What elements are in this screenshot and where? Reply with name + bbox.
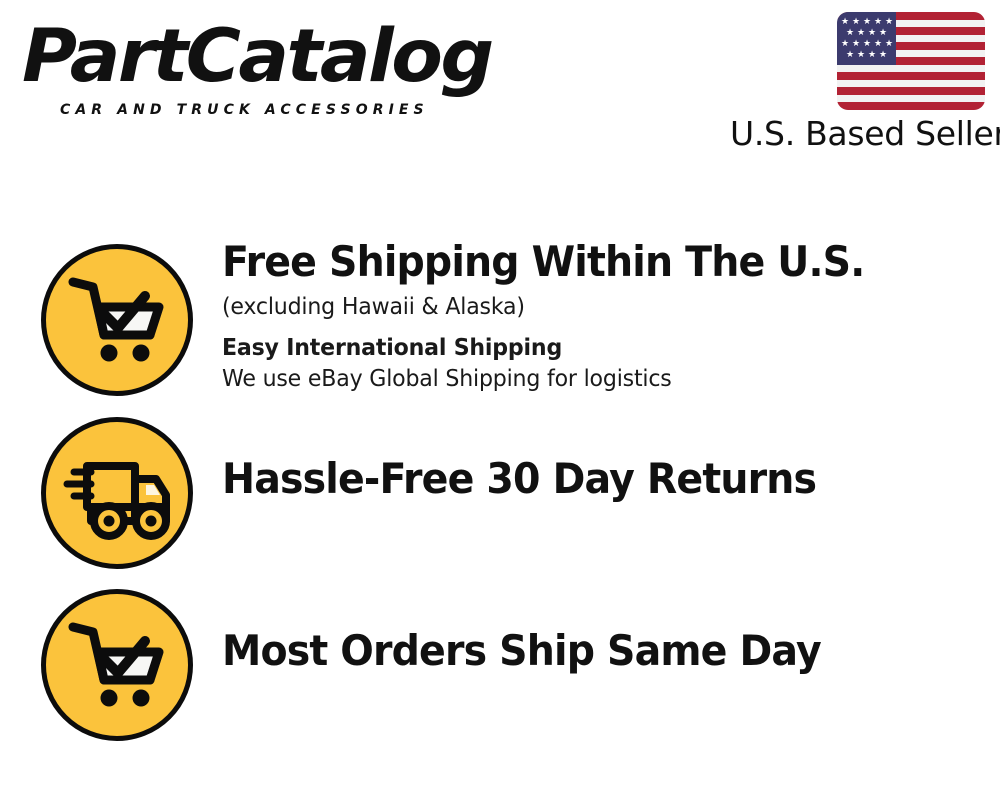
delivery-truck-icon (41, 417, 193, 569)
benefit-subtext-exclusions: (excluding Hawaii & Alaska) (222, 292, 961, 322)
cart-check-glyph (46, 249, 188, 391)
benefit-subtext-international-heading: Easy International Shipping (222, 333, 961, 363)
cart-check-glyph (46, 594, 188, 736)
benefit-row: Hassle-Free 30 Day Returns (0, 413, 1000, 578)
benefit-heading: Most Orders Ship Same Day (222, 627, 946, 675)
truck-glyph (46, 422, 188, 564)
benefit-text-block: Free Shipping Within The U.S. (excluding… (222, 240, 992, 394)
flag-canton: ★ ★ ★ ★ ★ ★ ★ ★ ★ ★ ★ ★ ★ ★ ★ ★ ★ ★ (837, 12, 896, 65)
brand-wordmark: PartCatalog (22, 18, 492, 96)
shopping-cart-check-icon (41, 244, 193, 396)
benefit-row: Most Orders Ship Same Day (0, 585, 1000, 750)
us-based-seller-label: U.S. Based Seller (730, 114, 985, 154)
shopping-cart-check-icon (41, 589, 193, 741)
brand-logo[interactable]: PartCatalog CAR AND TRUCK ACCESSORIES (22, 18, 492, 113)
brand-tagline: CAR AND TRUCK ACCESSORIES (60, 102, 429, 118)
benefit-row: Free Shipping Within The U.S. (excluding… (0, 240, 1000, 410)
benefit-subtext-logistics: We use eBay Global Shipping for logistic… (222, 364, 961, 394)
us-flag-icon: ★ ★ ★ ★ ★ ★ ★ ★ ★ ★ ★ ★ ★ ★ ★ ★ ★ ★ (837, 12, 985, 110)
benefit-heading: Free Shipping Within The U.S. (222, 238, 946, 286)
benefit-text-block: Hassle-Free 30 Day Returns (222, 413, 992, 503)
us-based-seller-block: ★ ★ ★ ★ ★ ★ ★ ★ ★ ★ ★ ★ ★ ★ ★ ★ ★ ★ U.S.… (730, 10, 988, 160)
benefit-text-block: Most Orders Ship Same Day (222, 585, 992, 675)
benefit-heading: Hassle-Free 30 Day Returns (222, 455, 946, 503)
page-header: PartCatalog CAR AND TRUCK ACCESSORIES ★ … (0, 0, 1000, 175)
